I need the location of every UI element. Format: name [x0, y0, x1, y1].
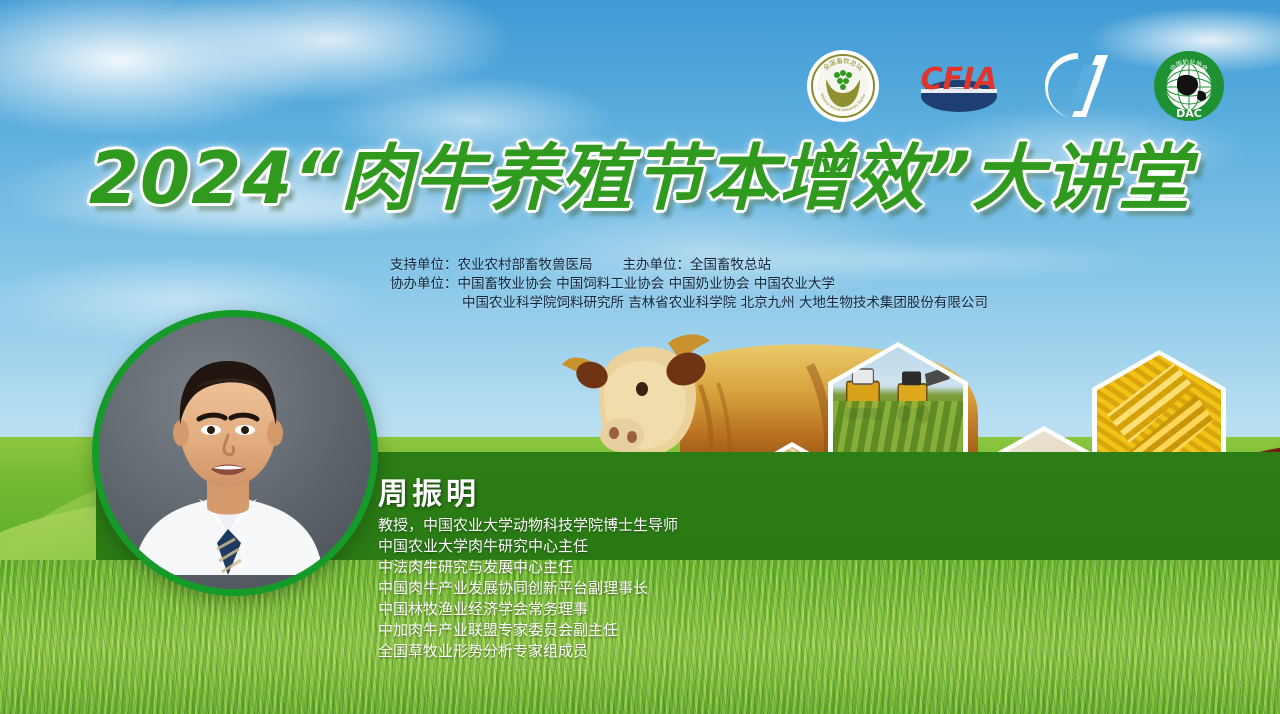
credential-line: 中国农业大学肉牛研究中心主任 — [378, 536, 938, 557]
coorg-line-2: 中国农业科学院饲料研究所 吉林省农业科学院 北京九州 大地生物技术集团股份有限公… — [462, 295, 988, 311]
credential-line: 中法肉牛研究与发展中心主任 — [378, 557, 938, 578]
caa-logo: CA — [1038, 49, 1118, 123]
poster-canvas: O C H₂N NH₂ — [0, 0, 1280, 714]
speaker-name: 周振明 — [378, 478, 938, 511]
dac-wordmark: DAC — [1176, 107, 1202, 120]
page-title: 2024“肉牛养殖节本增效”大讲堂 — [0, 142, 1280, 214]
credential-line: 中国林牧渔业经济学会常务理事 — [378, 599, 938, 620]
credential-line: 中加肉牛产业联盟专家委员会副主任 — [378, 620, 938, 641]
cfia-wordmark: CFIA — [921, 62, 998, 97]
support-label: 支持单位： — [390, 257, 458, 273]
organizer-row-support: 支持单位：农业农村部畜牧兽医局主办单位：全国畜牧总站 — [390, 256, 1150, 275]
national-animal-husbandry-station-logo: 全国畜牧总站 National Animal Husbandry Station — [806, 49, 880, 123]
portrait-illustration — [99, 317, 357, 575]
credential-line: 全国草牧业形势分析专家组成员 — [378, 641, 938, 662]
speaker-info: 周振明 教授，中国农业大学动物科技学院博士生导师 中国农业大学肉牛研究中心主任 … — [378, 478, 938, 662]
host-label: 主办单位： — [623, 257, 691, 273]
cfia-logo: CFIA — [914, 49, 1004, 123]
credential-line: 中国肉牛产业发展协同创新平台副理事长 — [378, 578, 938, 599]
coorg-label: 协办单位： — [390, 276, 458, 292]
organizer-row-coorg-2: 中国农业科学院饲料研究所 吉林省农业科学院 北京九州 大地生物技术集团股份有限公… — [390, 294, 1150, 313]
speaker-credentials: 教授，中国农业大学动物科技学院博士生导师 中国农业大学肉牛研究中心主任 中法肉牛… — [378, 515, 938, 662]
speaker-portrait — [92, 310, 378, 596]
dac-logo: 中国奶业协会 DAC — [1152, 49, 1226, 123]
support-value: 农业农村部畜牧兽医局 — [458, 257, 593, 273]
organizer-block: 支持单位：农业农村部畜牧兽医局主办单位：全国畜牧总站 协办单位：中国畜牧业协会 … — [390, 256, 1150, 313]
host-value: 全国畜牧总站 — [690, 257, 771, 273]
logo-row: 全国畜牧总站 National Animal Husbandry Station… — [806, 46, 1196, 126]
coorg-line-1: 中国畜牧业协会 中国饲料工业协会 中国奶业协会 中国农业大学 — [458, 276, 835, 292]
credential-line: 教授，中国农业大学动物科技学院博士生导师 — [378, 515, 938, 536]
organizer-row-coorg-1: 协办单位：中国畜牧业协会 中国饲料工业协会 中国奶业协会 中国农业大学 — [390, 275, 1150, 294]
